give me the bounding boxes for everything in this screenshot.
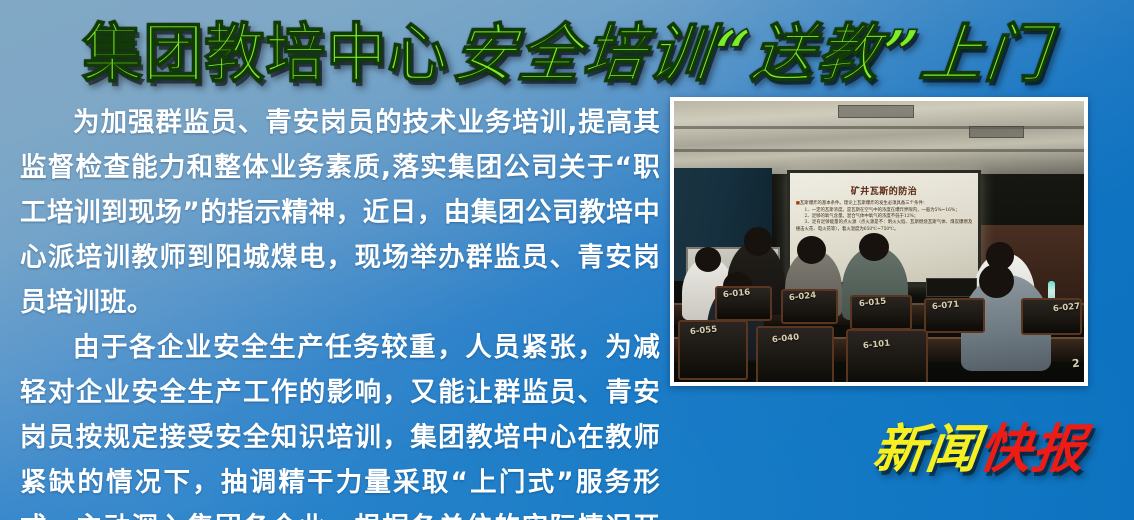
news-flash-badge: 新闻快报 (869, 407, 1090, 482)
photo-attendee-head (744, 227, 773, 255)
slide-title: 矿井瓦斯的防治 (790, 184, 979, 197)
photo-frame: 矿井瓦斯的防治 ■瓦斯爆炸的基本条件。理论上瓦斯爆炸的发生必须具备三个条件： 1… (670, 97, 1088, 386)
slide-body: ■瓦斯爆炸的基本条件。理论上瓦斯爆炸的发生必须具备三个条件： 1、一定的瓦斯浓度… (796, 201, 973, 233)
seat-number: 2 (1072, 356, 1081, 370)
slide-line-1: 瓦斯爆炸的基本条件。理论上瓦斯爆炸的发生必须具备三个条件： (800, 201, 927, 206)
headline-part-one: 集团教培中心 (82, 2, 448, 94)
photo-seat (846, 329, 928, 382)
badge-text-yellow: 新闻 (870, 420, 983, 480)
photo-attendee-head (979, 264, 1014, 298)
article-paragraph-1: 为加强群监员、青安岗员的技术业务培训,提高其监督检查能力和整体业务素质,落实集团… (20, 100, 660, 325)
news-graphic-page: 集团教培中心 安全培训“送教”上门 为加强群监员、青安岗员的技术业务培训,提高其… (0, 0, 1134, 520)
photo-ceiling-vent (838, 105, 914, 118)
training-classroom-photo: 矿井瓦斯的防治 ■瓦斯爆炸的基本条件。理论上瓦斯爆炸的发生必须具备三个条件： 1… (674, 101, 1084, 382)
article-paragraph-2: 由于各企业安全生产任务较重，人员紧张，为减轻对企业安全生产工作的影响，又能让群监… (20, 325, 660, 520)
headline-banner: 集团教培中心 安全培训“送教”上门 (0, 6, 1134, 90)
article-body: 为加强群监员、青安岗员的技术业务培训,提高其监督检查能力和整体业务素质,落实集团… (20, 100, 660, 520)
photo-attendee-head (797, 236, 826, 264)
photo-laptop (926, 278, 977, 297)
photo-ceiling-beam (674, 149, 1084, 152)
headline-part-two: 安全培训“送教”上门 (450, 2, 1057, 94)
slide-line-4: 3、足有足够能量的点火源（点火源是不：明火火焰、瓦斯燃烧瓦斯气体、煤炭爆燃及撞击… (796, 220, 973, 233)
photo-ceiling-vent (969, 126, 1024, 138)
photo-attendee-head (859, 233, 890, 261)
badge-text-red: 快报 (976, 420, 1089, 480)
